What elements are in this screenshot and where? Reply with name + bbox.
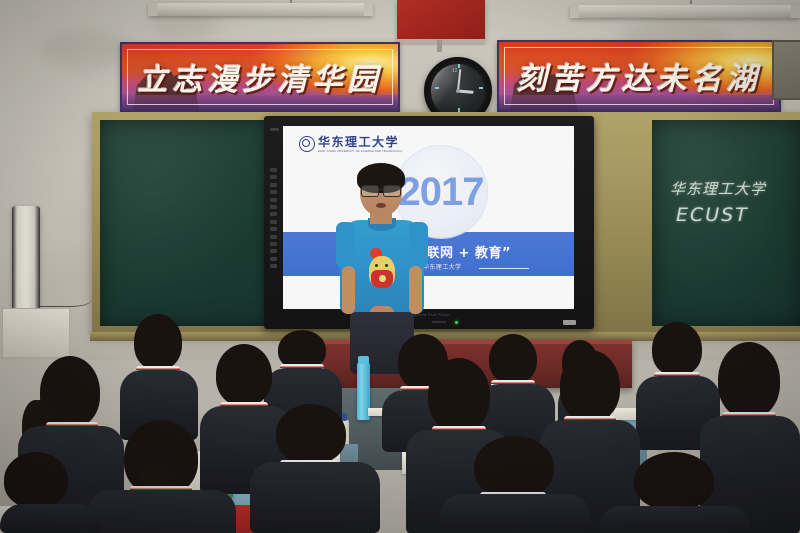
smartboard-button[interactable]	[270, 190, 277, 194]
clock-numeral-12: 12	[452, 68, 458, 74]
smartboard-button[interactable]	[270, 242, 277, 246]
eyeglasses-icon	[360, 185, 402, 195]
smartboard-button[interactable]	[270, 249, 277, 253]
smartboard-button[interactable]	[270, 212, 277, 216]
smartboard-button[interactable]	[270, 235, 277, 239]
blackboard-left	[100, 120, 282, 326]
presenter-arm-left	[342, 266, 355, 314]
slide-underline	[479, 268, 529, 269]
cable	[40, 288, 92, 307]
university-logo: 华东理工大学 EAST CHINA UNIVERSITY OF SCIENCE …	[299, 136, 403, 154]
student-front-3	[440, 436, 590, 533]
ceiling-light-left	[148, 3, 373, 16]
student-front-1	[88, 420, 236, 533]
flag-rod	[437, 40, 442, 52]
presenter-sleeve-left	[336, 222, 355, 268]
smartboard-button[interactable]	[270, 220, 277, 224]
clock-center-pin	[456, 89, 460, 93]
logo-english-name: EAST CHINA UNIVERSITY OF SCIENCE AND TEC…	[318, 149, 403, 154]
banner-left-text: 立志漫步清华园	[122, 55, 398, 99]
chalk-text-ecust: ECUST	[676, 204, 749, 226]
smartboard-button[interactable]	[270, 175, 277, 179]
chick-mascot-icon	[367, 248, 397, 288]
student-back-1	[120, 314, 198, 434]
blackboard-right: 华东理工大学 ECUST	[652, 120, 800, 326]
wall-cabinet	[2, 308, 70, 358]
classroom-scene: 立志漫步清华园 刻苦方达未名湖 12 华东理工大学 ECUST	[0, 0, 800, 533]
smartboard-button[interactable]	[270, 264, 277, 268]
smartboard-button[interactable]	[270, 198, 277, 202]
chalk-text-university: 华东理工大学	[670, 178, 766, 199]
presenter-arm-right	[409, 266, 422, 314]
wall-mounted-speaker	[12, 206, 40, 310]
red-flag	[397, 0, 485, 40]
banner-right-text: 刻苦方达未名湖	[499, 54, 779, 98]
motivational-banner-left: 立志漫步清华园	[120, 42, 400, 112]
presenter-sleeve-right	[409, 222, 428, 268]
smartboard-button[interactable]	[270, 205, 277, 209]
smartboard-button-column[interactable]	[270, 168, 278, 271]
smartboard-button[interactable]	[270, 257, 277, 261]
logo-chinese-name: 华东理工大学	[318, 136, 403, 149]
light-rod-left2	[690, 0, 692, 4]
motivational-banner-right: 刻苦方达未名湖	[497, 40, 781, 112]
smartboard-button[interactable]	[270, 168, 277, 172]
university-seal-icon	[299, 136, 315, 152]
student-front-2	[250, 404, 380, 533]
power-led-icon	[455, 321, 458, 324]
wall-picture-frame	[772, 40, 800, 100]
smartboard-sensor	[270, 128, 279, 131]
smartboard-ports	[432, 321, 446, 323]
ceiling-light-right	[570, 5, 800, 18]
student-front-4	[600, 452, 750, 533]
smartboard-button[interactable]	[270, 227, 277, 231]
student-front-5	[0, 452, 100, 533]
presenter-mouth	[376, 203, 386, 208]
smartboard-badge	[563, 320, 576, 325]
smartboard-button[interactable]	[270, 183, 277, 187]
